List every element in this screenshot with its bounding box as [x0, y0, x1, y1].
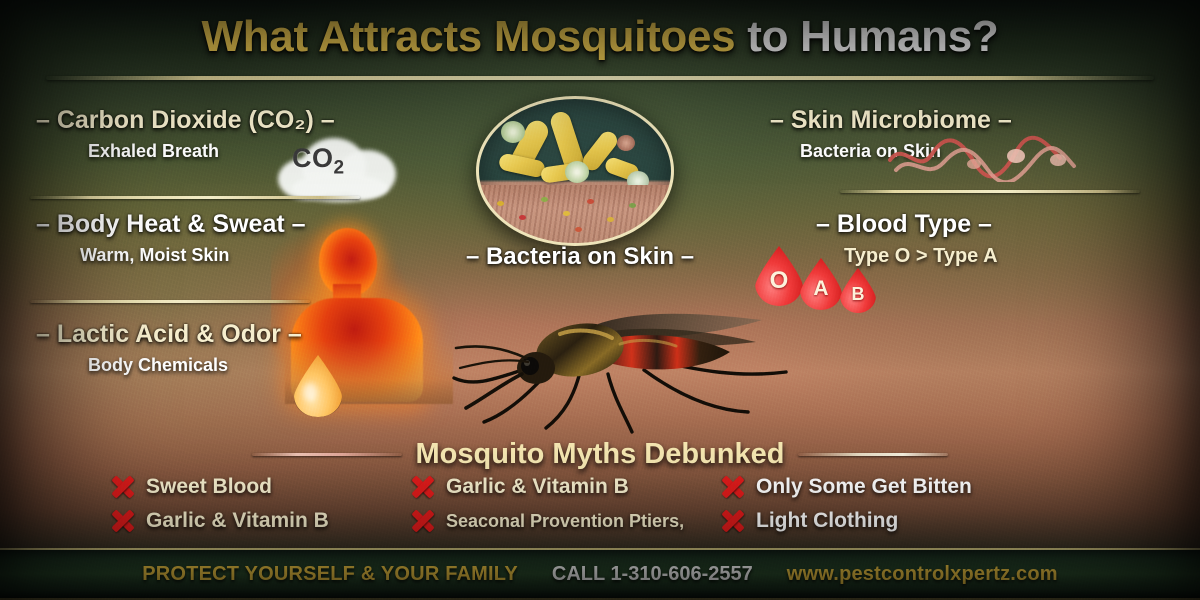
- myth-label: Garlic & Vitamin B: [446, 475, 629, 499]
- bacteria-squiggle-icon: [888, 132, 1078, 182]
- blood-type-heading: – Blood Type –: [816, 210, 998, 239]
- myth-item: Garlic & Vitamin B: [410, 474, 720, 500]
- poster-title: What Attracts Mosquitoes to Humans?: [0, 12, 1200, 62]
- co2-formula-main: CO: [292, 143, 334, 173]
- x-mark-icon: [720, 508, 746, 534]
- factor-body-heat: – Body Heat & Sweat – Warm, Moist Skin: [36, 210, 306, 266]
- factor-lactic-acid: – Lactic Acid & Odor – Body Chemicals: [36, 320, 302, 376]
- myths-header: Mosquito Myths Debunked: [0, 438, 1200, 471]
- blood-drop-b-icon: B: [840, 268, 876, 313]
- body-heat-subtitle: Warm, Moist Skin: [80, 245, 306, 266]
- x-mark-icon: [410, 508, 436, 534]
- myth-item: Light Clothing: [720, 508, 1050, 534]
- myths-title: Mosquito Myths Debunked: [416, 438, 785, 471]
- divider-right-1: [840, 190, 1140, 193]
- footer-website[interactable]: www.pestcontrolxpertz.com: [787, 563, 1058, 586]
- title-divider: [46, 76, 1154, 80]
- body-heat-heading: – Body Heat & Sweat –: [36, 210, 306, 239]
- x-mark-icon: [410, 474, 436, 500]
- myths-divider-left: [252, 453, 402, 456]
- footer-phone[interactable]: CALL 1-310-606-2557: [552, 563, 753, 586]
- bacteria-on-skin-caption: – Bacteria on Skin –: [430, 243, 730, 271]
- divider-left-1: [30, 196, 360, 199]
- myth-item: Garlic & Vitamin B: [110, 508, 410, 534]
- x-mark-icon: [720, 474, 746, 500]
- blood-type-subtitle: Type O > Type A: [844, 245, 998, 268]
- title-primary: What Attracts Mosquitoes: [201, 12, 747, 61]
- myth-label: Light Clothing: [756, 509, 898, 533]
- blood-drop-a-label: A: [800, 277, 842, 301]
- co2-formula-label: CO2: [292, 143, 345, 179]
- bacteria-microscope-oval-icon: [476, 96, 674, 246]
- myth-label: Only Some Get Bitten: [756, 475, 972, 499]
- myth-label: Sweet Blood: [146, 475, 272, 499]
- blood-drop-b-label: B: [840, 284, 876, 305]
- myths-list: Sweet Blood Garlic & Vitamin B Only Some…: [110, 474, 1110, 534]
- myth-label: Garlic & Vitamin B: [146, 509, 329, 533]
- title-secondary: to Humans?: [747, 12, 998, 61]
- myth-item: Seaconal Provention Ptiers,: [410, 508, 720, 534]
- myth-label: Seaconal Provention Ptiers,: [446, 511, 684, 532]
- co2-formula-subscript: 2: [334, 157, 345, 178]
- lactic-acid-subtitle: Body Chemicals: [88, 355, 302, 376]
- factor-blood-type: – Blood Type – Type O > Type A: [816, 210, 998, 268]
- divider-left-2: [30, 300, 310, 303]
- skin-microbiome-heading: – Skin Microbiome –: [770, 106, 1012, 135]
- footer-bar: PROTECT YOURSELF & YOUR FAMILY CALL 1-31…: [0, 548, 1200, 600]
- mosquito-infographic-poster: What Attracts Mosquitoes to Humans? – Ca…: [0, 0, 1200, 600]
- x-mark-icon: [110, 508, 136, 534]
- bacteria-on-skin-heading: – Bacteria on Skin –: [466, 243, 694, 270]
- mosquito-illustration-icon: [448, 286, 798, 436]
- footer-tagline: PROTECT YOURSELF & YOUR FAMILY: [142, 563, 518, 586]
- lactic-acid-heading: – Lactic Acid & Odor –: [36, 320, 302, 349]
- myth-item: Only Some Get Bitten: [720, 474, 1050, 500]
- myths-divider-right: [798, 453, 948, 456]
- myth-item: Sweet Blood: [110, 474, 410, 500]
- x-mark-icon: [110, 474, 136, 500]
